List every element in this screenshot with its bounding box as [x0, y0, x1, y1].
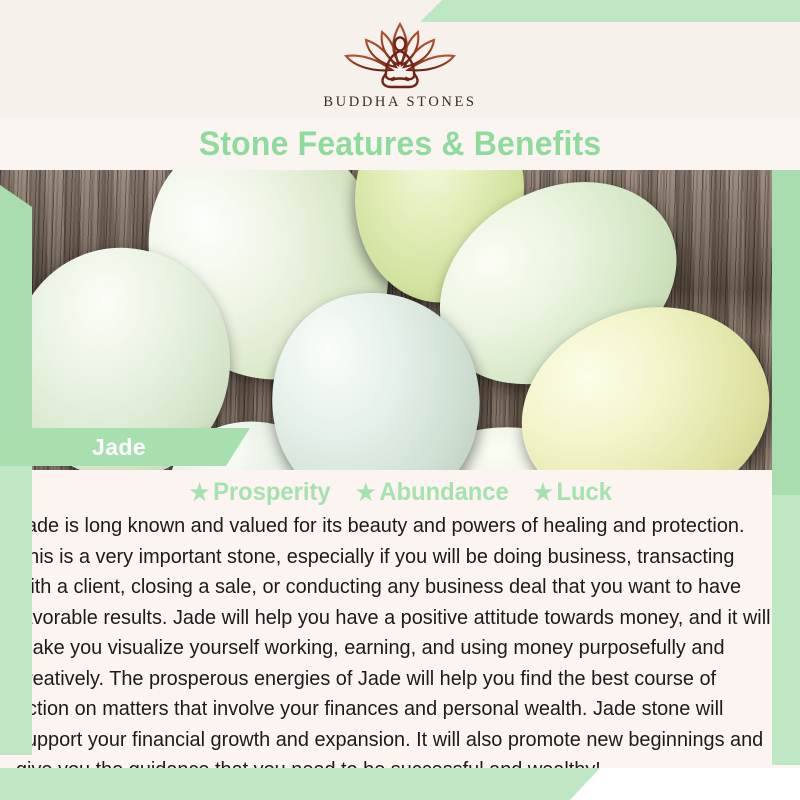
page-title: Stone Features & Benefits	[199, 125, 602, 164]
star-icon: ★	[189, 479, 209, 505]
benefit-label: Prosperity	[213, 478, 330, 506]
benefits-list: ★Prosperity ★Abundance ★Luck	[0, 478, 800, 507]
decoration-band-left-lower	[0, 455, 32, 755]
stone-name-label: Jade	[92, 434, 146, 461]
benefit-label: Abundance	[380, 478, 509, 506]
decoration-band-right-lower	[772, 495, 800, 765]
star-icon: ★	[534, 479, 554, 505]
content-panel: ★Prosperity ★Abundance ★Luck Jade is lon…	[0, 470, 800, 800]
page-title-bar: Stone Features & Benefits	[0, 118, 800, 170]
benefit-item-prosperity: ★Prosperity	[189, 478, 330, 507]
brand-logo: BUDDHA STONES	[0, 18, 800, 111]
benefit-item-abundance: ★Abundance	[356, 478, 509, 507]
stone-description: Jade is long known and valued for its be…	[16, 511, 772, 786]
decoration-band-bottom-left	[0, 768, 600, 800]
lotus-meditation-icon	[336, 18, 464, 90]
poster-root: BUDDHA STONES Stone Features & Benefits …	[0, 0, 800, 800]
benefit-label: Luck	[557, 478, 612, 506]
stone-name-badge: Jade	[0, 428, 250, 466]
brand-name: BUDDHA STONES	[0, 94, 800, 111]
benefit-item-luck: ★Luck	[534, 478, 613, 507]
decoration-band-right-upper	[772, 150, 800, 500]
star-icon: ★	[356, 479, 376, 505]
stone-photo	[0, 170, 800, 470]
